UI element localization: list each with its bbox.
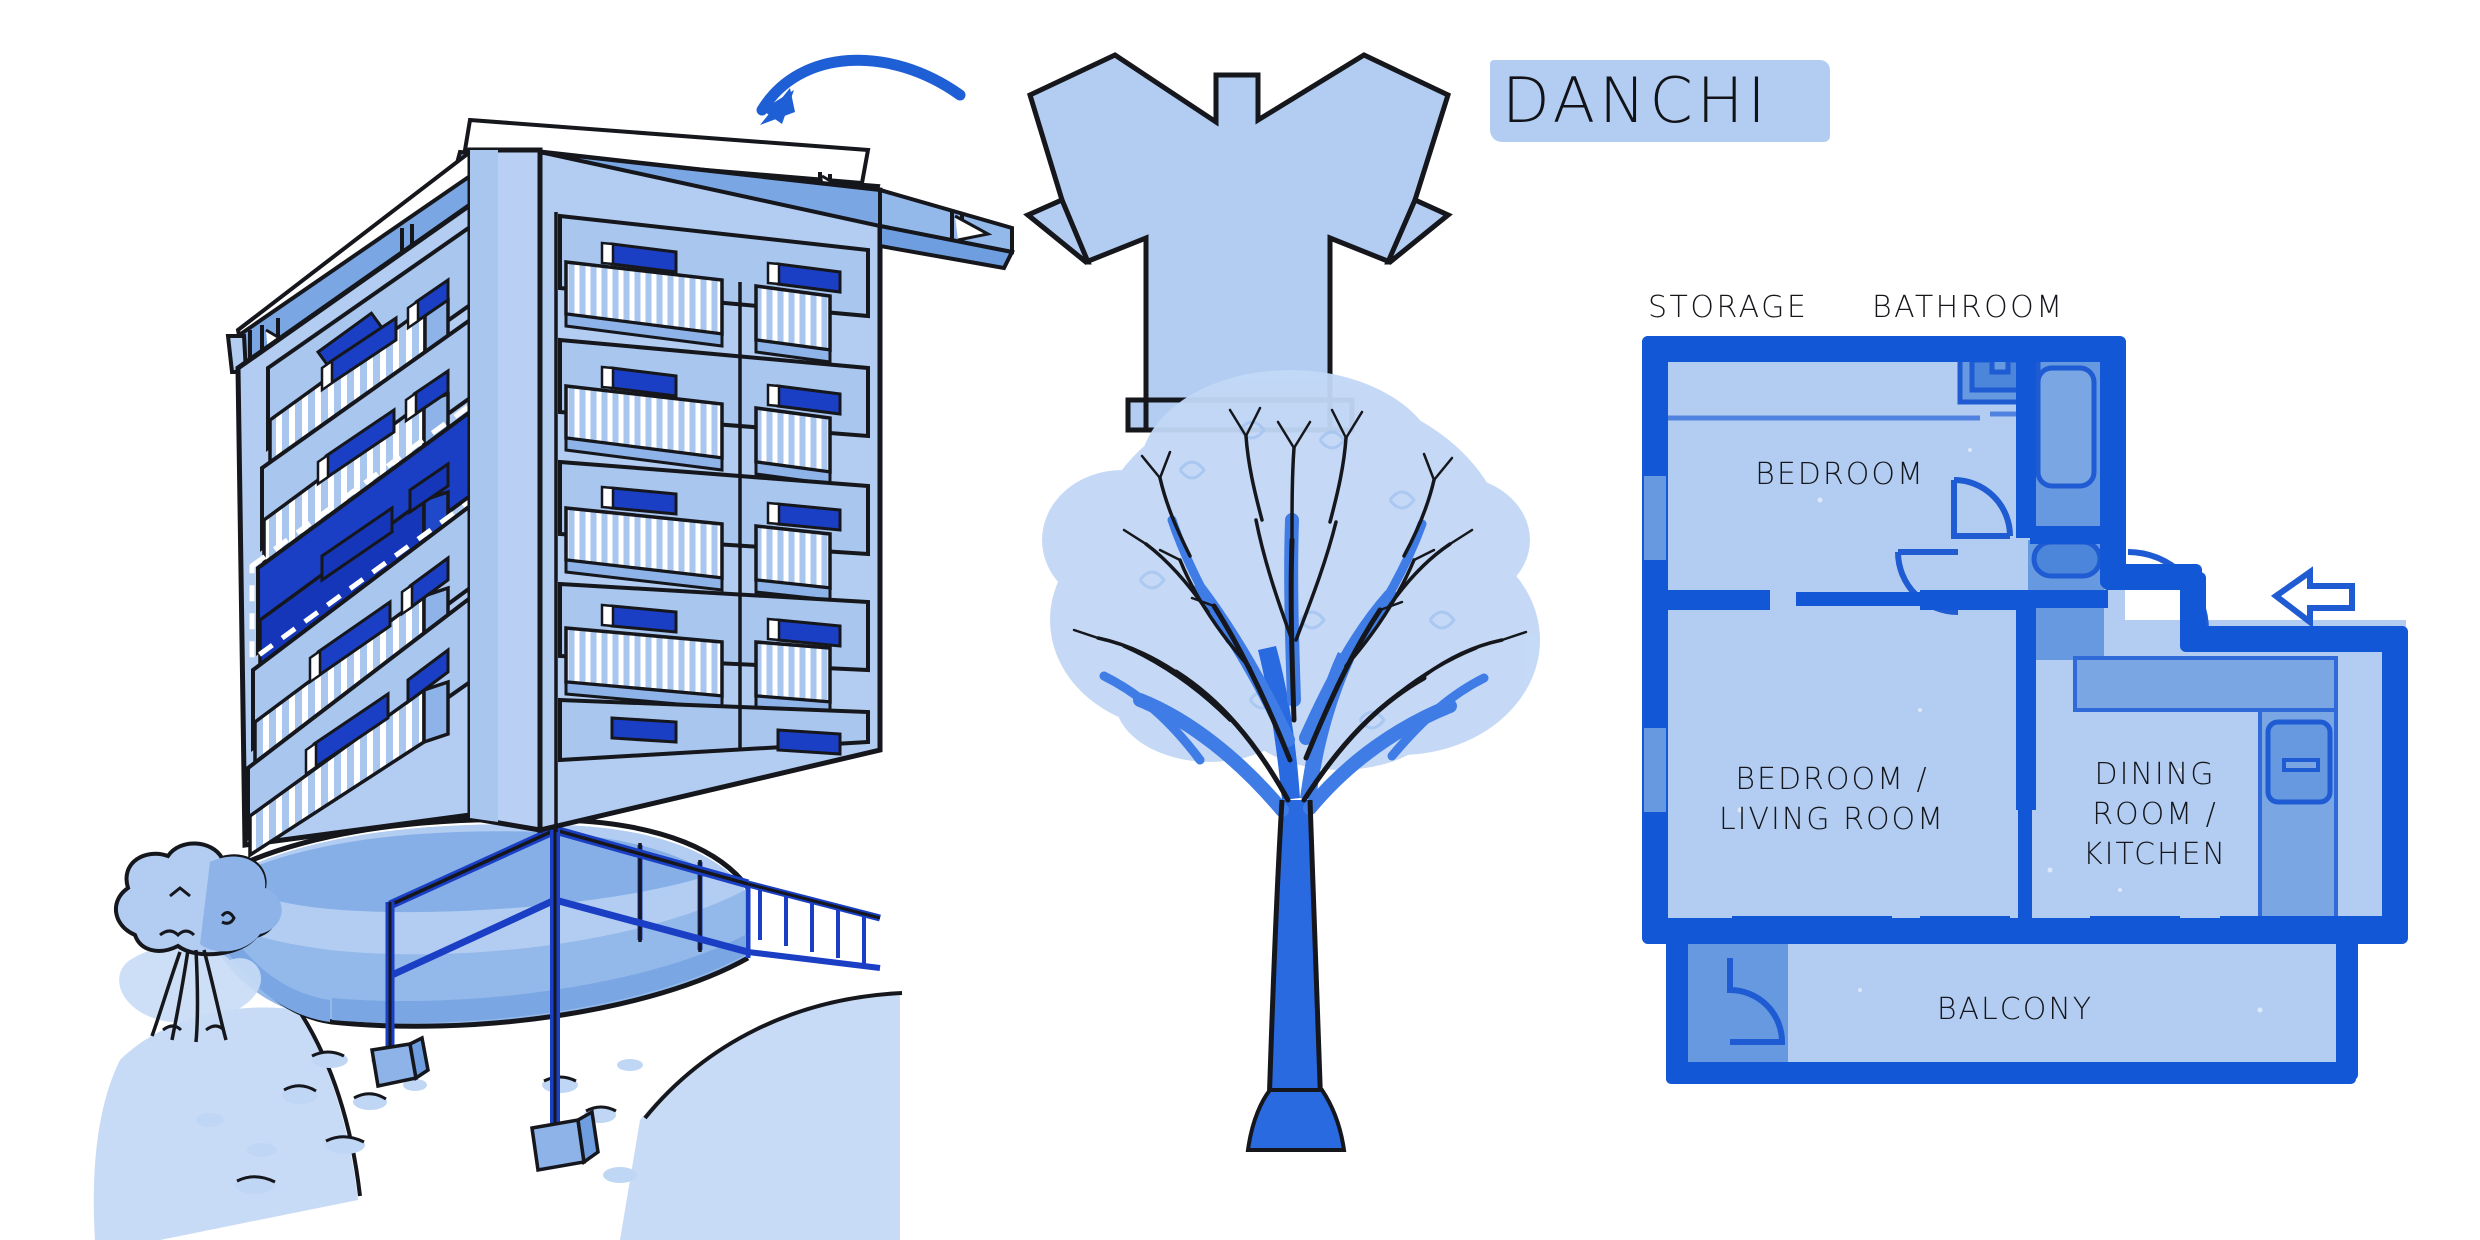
kitchen-sink xyxy=(2268,722,2330,802)
entrance-arrow xyxy=(2276,572,2352,622)
raised-lawn-platform xyxy=(200,819,748,1026)
path-stepping-stones xyxy=(196,1052,643,1194)
cherry-blossom-tree xyxy=(1042,370,1540,1150)
bathtub xyxy=(2038,368,2094,486)
fence-footing xyxy=(372,1038,598,1170)
apartment-floor-plan: STORAGE BATHROOM xyxy=(1620,290,2420,1100)
metal-fence xyxy=(372,828,880,1170)
curved-pointer-arrow xyxy=(760,60,960,125)
balcony-storage xyxy=(1678,930,1788,1068)
right-wing-balconies xyxy=(560,216,868,760)
shrub xyxy=(116,843,282,1042)
illustration-canvas: DANCHI STORAGE BATHROOM xyxy=(0,0,2480,1240)
page-title: DANCHI xyxy=(1490,48,1850,152)
danchi-apartment-building xyxy=(228,120,1012,855)
title-label: DANCHI xyxy=(1502,62,1842,140)
walking-path xyxy=(94,993,902,1240)
path-stone-outlines xyxy=(237,1052,616,1182)
y-shaped-building-footprint-plan xyxy=(1028,55,1448,430)
toilet xyxy=(2034,542,2100,576)
scene-illustration xyxy=(0,0,1500,1240)
